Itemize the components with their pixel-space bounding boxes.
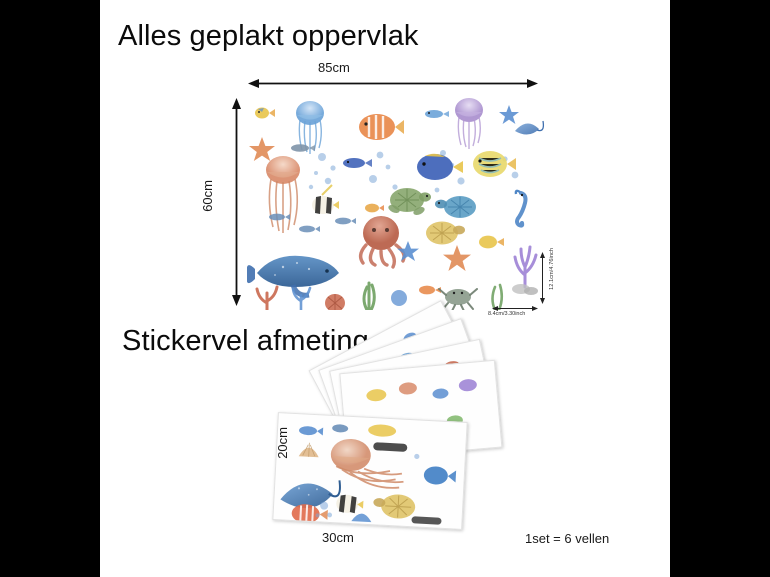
wall-height-label: 60cm <box>200 180 215 212</box>
content-canvas: Alles geplakt oppervlak 85cm 60cm <box>100 0 670 577</box>
double-arrow-horizontal-icon <box>248 78 538 89</box>
screenshot-stage: Alles geplakt oppervlak 85cm 60cm <box>0 0 770 577</box>
detail-height-arrow-icon <box>537 252 548 304</box>
detail-width-label: 8.4cm/3.30inch <box>488 311 525 317</box>
wall-width-label: 85cm <box>318 60 350 75</box>
sheet-height-label: 20cm <box>275 427 290 459</box>
sheet-width-label: 30cm <box>322 530 354 545</box>
sticker-artwork-field <box>247 95 545 310</box>
wall-coverage-diagram: 85cm 60cm <box>100 60 670 325</box>
sea-life-sticker-illustration <box>247 95 545 310</box>
sticker-sheet-fan <box>275 355 525 530</box>
double-arrow-vertical-icon <box>231 98 242 306</box>
page-title-wall-coverage: Alles geplakt oppervlak <box>118 20 419 53</box>
page-title-sheet-size: Stickervel afmeting <box>122 325 369 358</box>
set-contents-note: 1set = 6 vellen <box>525 531 609 546</box>
sheet-item-front <box>272 412 467 530</box>
sheet-size-diagram: 20cm 30cm 1set = 6 vellen <box>100 355 670 577</box>
front-sheet-artwork <box>273 413 467 530</box>
detail-height-label: 12.1cm/4.76inch <box>549 248 555 290</box>
